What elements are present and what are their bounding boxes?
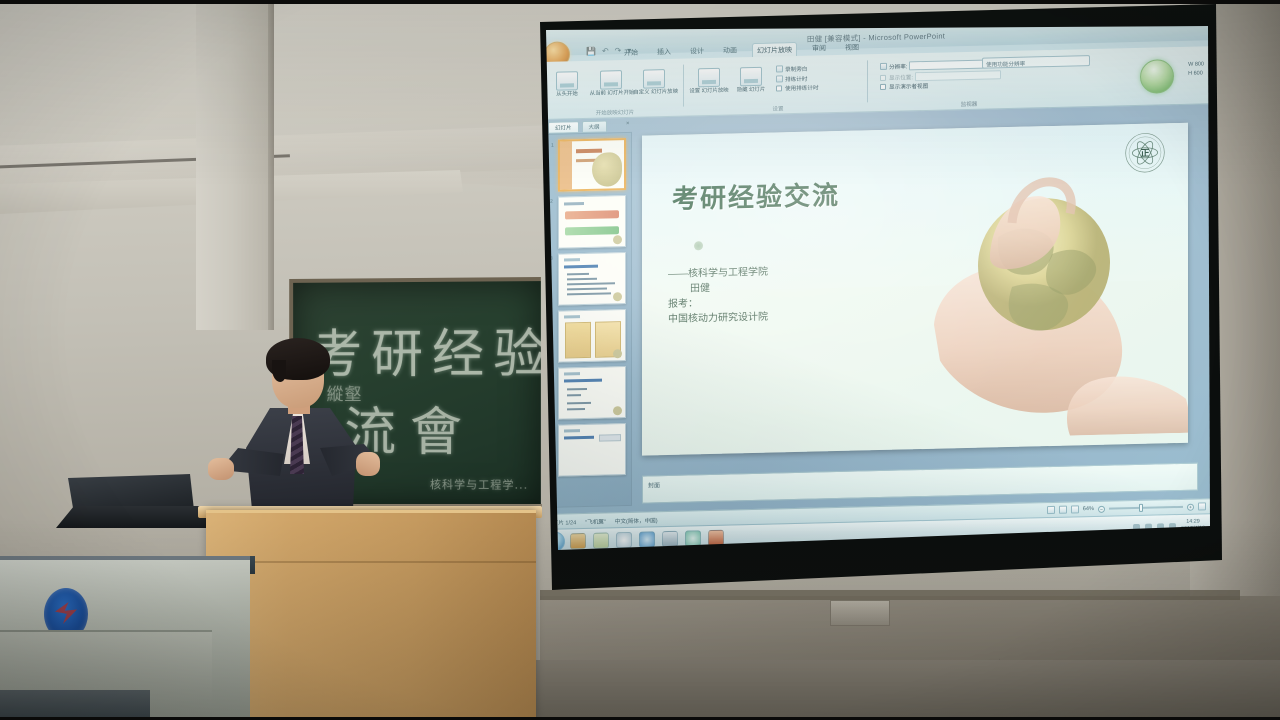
item-use-timings-label: 使用排练计时 [785,85,819,92]
button-setup-show-label: 设置 幻灯片放映 [688,88,730,95]
presenter-tie [290,416,304,474]
ribbon-help-field[interactable]: 使用功能分辨率 [982,55,1090,69]
presenter-left-hand [208,458,234,480]
presenter-hair [266,338,330,380]
slide-thumbnail-panel[interactable]: 1 2 [546,132,632,508]
clock-date: 2013/4/18 [1181,525,1205,533]
network-icon[interactable] [1133,523,1140,530]
button-from-current-label: 从当前 幻灯片开始 [590,90,632,97]
thumbnail-number: 5 [550,370,553,376]
wall-pillar-edge [268,0,274,330]
slide-title: 考研经验交流 [672,175,840,216]
button-hide-slide-label: 隐藏 幻灯片 [730,87,772,94]
zoom-slider[interactable] [1109,506,1183,510]
language-indicator[interactable]: 中文(简体，中国) [615,516,658,525]
thumbnail-number: 6 [550,427,553,433]
podium [206,510,536,720]
browser-icon[interactable] [639,531,655,547]
presentation-status-indicator [1140,59,1174,94]
display-on-combo[interactable] [915,70,1001,81]
frame-top-band [0,0,1280,4]
thumbnail-slide-4[interactable]: 4 [558,309,626,363]
blackboard-small-text: 核科学与工程学... [430,476,528,493]
nuclear-university-seal-icon: 正 [1124,131,1166,174]
presenter [236,340,364,530]
slideshow-view-icon[interactable] [1071,505,1079,513]
zoom-in-icon[interactable]: + [1187,503,1194,510]
thumbnail-number: 4 [550,313,553,319]
monitor-width: W 800 [1188,60,1204,69]
slide-subtitle-line-4: 中国核动力研究设计院 [668,310,768,327]
projection-screen-surface: 田健 [兼容模式] - Microsoft PowerPoint 💾 ↶ ↷ ▾ [542,26,1210,554]
hands-holding-globe-image [894,133,1188,440]
ribbon-divider [867,60,868,102]
slide-subtitle: ——核科学与工程学院 田健 报考： 中国核动力研究设计院 [668,265,768,327]
wall-vent [830,600,890,626]
zoom-slider-knob[interactable] [1139,504,1143,512]
item-use-timings[interactable]: 使用排练计时 [776,84,819,94]
save-icon[interactable] [662,531,678,547]
display-on-checkbox[interactable] [880,75,886,81]
item-record-narration-label: 录制旁白 [785,67,807,74]
powerpoint-window[interactable]: 田健 [兼容模式] - Microsoft PowerPoint 💾 ↶ ↷ ▾ [542,26,1210,554]
panel-tab-outline[interactable]: 大纲 [582,120,607,133]
editor-workspace: 幻灯片 大纲 × 1 2 [542,104,1210,514]
slide-counter: 幻灯片 1/24 [547,518,576,527]
fit-to-window-icon[interactable] [1198,502,1206,510]
slideshow-start-icon [556,71,578,91]
monitor-height: H 600 [1188,69,1204,78]
button-from-beginning[interactable]: 从头开始 [546,69,588,98]
item-display-on-label: 显示位置: [889,75,913,82]
monitor-resolution-readout: W 800 H 600 [1188,60,1204,78]
ribbon-group-setup: 设置 幻灯片放映 隐藏 幻灯片 录制旁白 [688,56,868,114]
security-icon[interactable] [1145,523,1152,530]
ribbon-divider [683,65,684,107]
thumbnail-number: 3 [550,256,553,262]
resolution-icon [880,63,887,70]
show-desktop-icon[interactable] [570,533,586,549]
record-narration-icon [776,65,783,72]
normal-view-icon[interactable] [1047,506,1055,514]
zoom-out-icon[interactable]: − [1098,505,1105,512]
hide-slide-icon [740,67,762,87]
panel-close-icon[interactable]: × [626,121,630,127]
droplet-icon[interactable] [685,530,701,546]
presenter-right-hand [356,452,380,476]
theme-name: “飞机翼” [585,517,606,525]
status-bar-left: 幻灯片 1/24 “飞机翼” 中文(简体，中国) [547,516,658,527]
undo-icon[interactable]: ↶ [602,46,609,55]
button-custom-show-label: 自定义 幻灯片放映 [633,89,675,96]
media-player-icon[interactable] [616,532,632,548]
taskbar-clock[interactable]: 14:29 2013/4/18 [1181,518,1205,533]
use-timings-checkbox[interactable] [776,85,782,91]
presenter-view-checkbox[interactable] [880,84,886,90]
svg-text:正: 正 [1140,148,1149,159]
setup-show-icon [698,68,720,88]
wall-pillar [196,0,270,330]
folder-icon[interactable] [593,532,609,548]
item-presenter-view-label: 显示演示者视图 [889,84,928,91]
status-bar-right[interactable]: 64% − + [1047,502,1206,514]
thumbnail-slide-3[interactable]: 3 [558,252,626,306]
ime-icon[interactable] [1157,523,1164,530]
powerpoint-icon[interactable] [708,530,724,546]
button-hide-slide[interactable]: 隐藏 幻灯片 [730,65,772,94]
projection-screen-bezel: 田健 [兼容模式] - Microsoft PowerPoint 💾 ↶ ↷ ▾ [528,4,1222,590]
item-rehearse-timings-label: 排练计时 [785,77,807,84]
item-resolution-label: 分辨率: [889,64,907,70]
thumbnail-slide-6[interactable]: 6 [558,423,626,477]
custom-show-icon [643,69,665,89]
button-from-current[interactable]: 从当前 幻灯片开始 [590,68,632,97]
current-slide[interactable]: 正 考研经验交流 ——核科学与工程学院 田健 报考： 中国核动力研究设计院 [642,123,1188,456]
thumbnail-number: 2 [550,199,553,205]
classroom-scene: 考研经验 縱壑 流會 核科学与工程学... 田健 [兼容模式] - Micros… [0,0,1280,720]
thumbnail-number: 1 [551,143,554,149]
thumbnail-slide-2[interactable]: 2 [558,195,626,249]
slide-sorter-view-icon[interactable] [1059,506,1067,514]
baseboard [540,590,1240,600]
panel-tab-slides[interactable]: 幻灯片 [548,121,579,134]
thumbnail-slide-1[interactable]: 1 [558,138,626,192]
save-icon[interactable]: 💾 [586,47,596,56]
slide-editing-pane[interactable]: 正 考研经验交流 ——核科学与工程学院 田健 报考： 中国核动力研究设计院 [636,118,1204,471]
rehearse-timings-icon [776,75,783,82]
slideshow-current-icon [600,70,622,90]
thumbnail-slide-5[interactable]: 5 [558,366,626,420]
slide-subtitle-line-1: ——核科学与工程学院 [668,265,768,282]
zoom-level: 64% [1083,506,1094,512]
desk-seat [0,690,150,720]
system-tray[interactable]: 14:29 2013/4/18 [1133,518,1205,534]
volume-icon[interactable] [1169,523,1176,530]
quick-launch-bar[interactable] [570,530,724,550]
button-custom-show[interactable]: 自定义 幻灯片放映 [633,67,675,96]
button-setup-show[interactable]: 设置 幻灯片放映 [688,66,730,95]
button-from-beginning-label: 从头开始 [546,91,588,98]
ribbon-group-start-show: 从头开始 从当前 幻灯片开始 自定义 幻灯片放映 开始放映幻灯片 [546,61,684,118]
